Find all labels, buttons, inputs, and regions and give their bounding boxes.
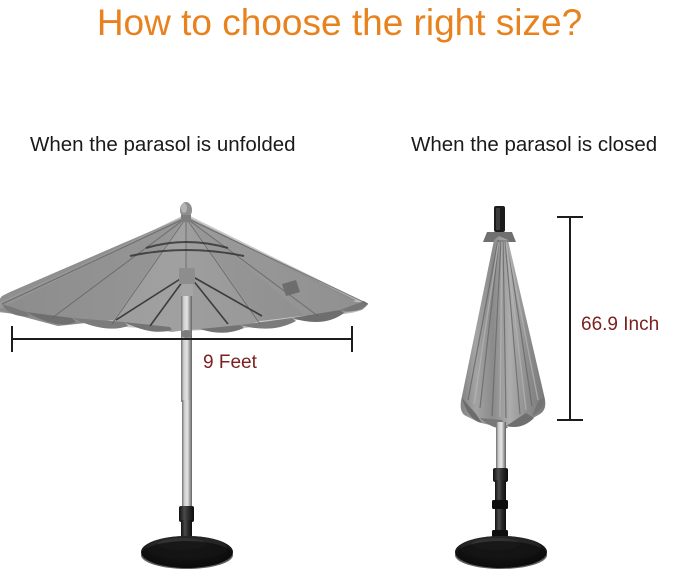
pole-middle xyxy=(182,400,192,510)
height-rule xyxy=(569,217,571,420)
closed-umbrella-icon xyxy=(432,200,582,575)
height-rule-bottom-tick xyxy=(557,419,583,421)
open-umbrella-icon xyxy=(0,200,376,575)
finial-icon xyxy=(180,202,192,222)
caption-closed: When the parasol is closed xyxy=(411,133,657,157)
open-umbrella-illustration xyxy=(0,200,376,575)
canopy-hub xyxy=(179,268,195,298)
umbrella-base-icon xyxy=(141,536,233,569)
width-rule-right-tick xyxy=(351,326,353,352)
pole-upper xyxy=(181,296,192,402)
caption-unfolded: When the parasol is unfolded xyxy=(30,133,296,157)
closed-umbrella-illustration xyxy=(432,200,582,575)
dimension-label-width: 9 Feet xyxy=(203,352,257,374)
finial-icon xyxy=(494,206,505,232)
pole-joint xyxy=(179,506,194,522)
pole-collar xyxy=(181,330,192,338)
pole-clamp-upper xyxy=(492,500,508,509)
dimension-label-height: 66.9 Inch xyxy=(581,314,659,336)
page-title: How to choose the right size? xyxy=(0,2,679,44)
infographic-page: How to choose the right size? When the p… xyxy=(0,0,679,575)
pole-joint xyxy=(493,468,508,482)
width-rule xyxy=(12,338,353,340)
umbrella-base-icon xyxy=(455,536,547,569)
